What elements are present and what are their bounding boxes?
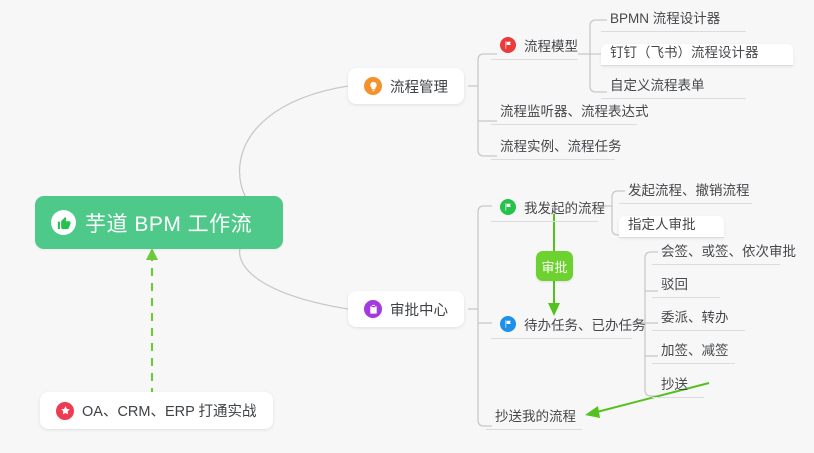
node-countersign-label: 会签、或签、依次审批	[661, 244, 796, 259]
lightbulb-icon	[364, 77, 382, 95]
node-cc[interactable]: 抄送	[652, 376, 704, 398]
bottom-note-label: OA、CRM、ERP 打通实战	[82, 400, 257, 421]
node-process-model[interactable]: 流程模型	[491, 36, 578, 60]
node-countersign[interactable]: 会签、或签、依次审批	[652, 243, 780, 265]
node-my-initiated[interactable]: 我发起的流程	[491, 198, 598, 222]
thumbs-up-icon	[51, 210, 76, 235]
node-bpmn-designer[interactable]: BPMN 流程设计器	[601, 10, 746, 32]
node-dingtalk-designer-label: 钉钉（飞书）流程设计器	[610, 45, 759, 60]
node-reject[interactable]: 驳回	[652, 276, 720, 298]
node-my-initiated-label: 我发起的流程	[524, 201, 605, 216]
node-reject-label: 驳回	[661, 277, 688, 292]
branch-approval-center-label: 审批中心	[390, 299, 448, 320]
node-delegate-transfer-label: 委派、转办	[661, 310, 729, 325]
node-todo-done-tasks[interactable]: 待办任务、已办任务	[491, 315, 632, 339]
node-process-listener[interactable]: 流程监听器、流程表达式	[491, 103, 637, 125]
node-start-cancel-process-label: 发起流程、撤销流程	[628, 183, 750, 198]
node-delegate-transfer[interactable]: 委派、转办	[652, 309, 745, 331]
root-label: 芋道 BPM 工作流	[85, 208, 252, 238]
node-add-remove-sign[interactable]: 加签、减签	[652, 342, 735, 364]
node-custom-form[interactable]: 自定义流程表单	[601, 77, 746, 99]
branch-process-management-label: 流程管理	[390, 76, 448, 97]
node-process-instance[interactable]: 流程实例、流程任务	[491, 138, 615, 160]
flag-icon	[500, 37, 516, 53]
node-todo-done-tasks-label: 待办任务、已办任务	[524, 318, 646, 333]
root-node[interactable]: 芋道 BPM 工作流	[35, 196, 283, 249]
bottom-note-card[interactable]: OA、CRM、ERP 打通实战	[40, 392, 273, 429]
node-add-remove-sign-label: 加签、减签	[661, 343, 729, 358]
approval-chip-label: 审批	[541, 257, 567, 276]
branch-process-management[interactable]: 流程管理	[348, 68, 464, 104]
node-cc-label: 抄送	[661, 377, 688, 392]
node-bpmn-designer-label: BPMN 流程设计器	[610, 11, 720, 26]
dashed-arrow-bottom-note	[146, 248, 158, 396]
node-assignee-approval[interactable]: 指定人审批	[619, 216, 724, 238]
node-process-model-label: 流程模型	[524, 39, 578, 54]
node-dingtalk-designer[interactable]: 钉钉（飞书）流程设计器	[601, 44, 793, 66]
node-process-instance-label: 流程实例、流程任务	[500, 139, 622, 154]
node-cc-to-me[interactable]: 抄送我的流程	[486, 408, 582, 430]
flag-icon	[500, 316, 516, 332]
star-icon	[56, 402, 74, 420]
clipboard-icon	[364, 300, 382, 318]
branch-approval-center[interactable]: 审批中心	[348, 291, 464, 327]
node-start-cancel-process[interactable]: 发起流程、撤销流程	[619, 182, 752, 204]
approval-chip: 审批	[536, 251, 573, 281]
flag-icon	[500, 199, 516, 215]
node-cc-to-me-label: 抄送我的流程	[495, 409, 576, 424]
node-assignee-approval-label: 指定人审批	[628, 217, 696, 232]
node-custom-form-label: 自定义流程表单	[610, 78, 705, 93]
node-process-listener-label: 流程监听器、流程表达式	[500, 104, 649, 119]
mindmap-canvas: 芋道 BPM 工作流 流程管理 流程模型 BPMN 流程设计器 钉钉（飞书）流程…	[0, 0, 814, 453]
